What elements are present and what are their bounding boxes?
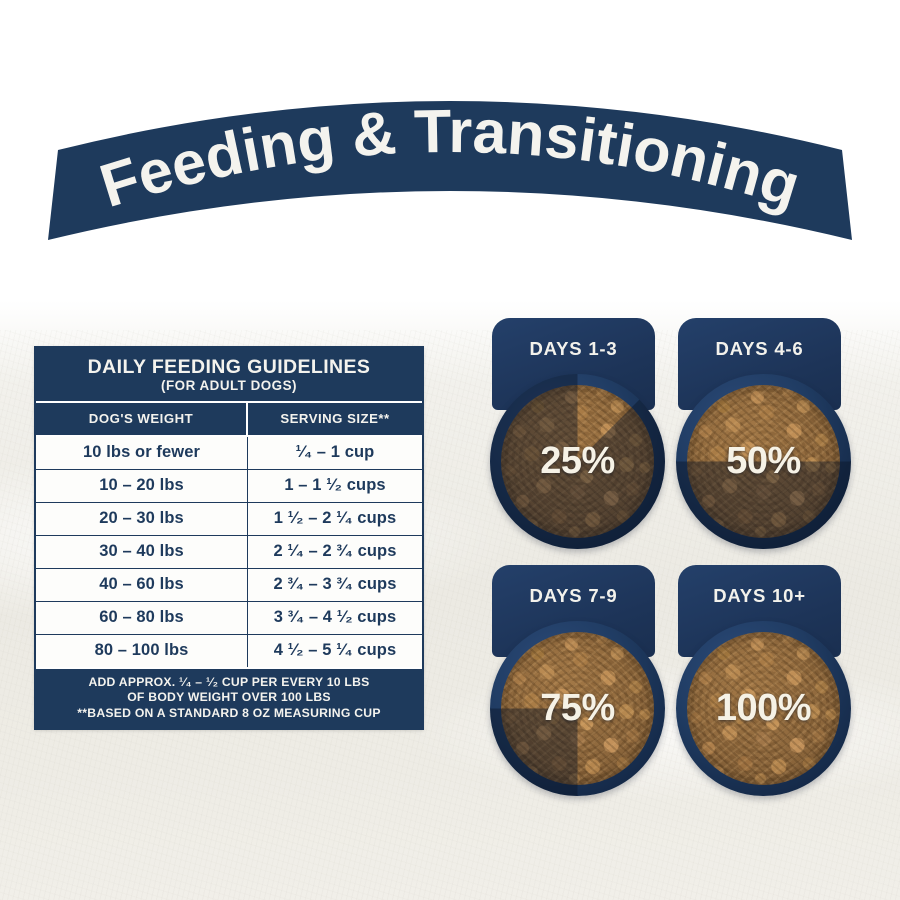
footer-note: **BASED ON A STANDARD 8 OZ MEASURING CUP <box>42 706 416 721</box>
step-label: DAYS 4-6 <box>678 338 841 360</box>
table-row: 80 – 100 lbs 4 ¹⁄₂ – 5 ¹⁄₄ cups <box>36 634 422 667</box>
transition-step-days-1-3: DAYS 1-3 25% <box>490 318 665 550</box>
table-row: 20 – 30 lbs 1 ¹⁄₂ – 2 ¹⁄₄ cups <box>36 502 422 535</box>
cell-weight: 10 lbs or fewer <box>36 437 248 469</box>
table-row: 10 lbs or fewer ¹⁄₄ – 1 cup <box>36 435 422 469</box>
table-row: 40 – 60 lbs 2 ³⁄₄ – 3 ³⁄₄ cups <box>36 568 422 601</box>
footer-line-1: ADD APPROX. ¹⁄₄ – ¹⁄₂ CUP PER EVERY 10 L… <box>42 675 416 690</box>
transition-step-days-10-plus: DAYS 10+ 100% <box>676 565 851 797</box>
table-header: DAILY FEEDING GUIDELINES (FOR ADULT DOGS… <box>36 348 422 401</box>
table-row: 10 – 20 lbs 1 – 1 ¹⁄₂ cups <box>36 469 422 502</box>
daily-feeding-guidelines-table: DAILY FEEDING GUIDELINES (FOR ADULT DOGS… <box>34 346 424 730</box>
banner: Feeding & Transitioning <box>40 100 860 260</box>
step-label: DAYS 7-9 <box>492 585 655 607</box>
table-subtitle: (FOR ADULT DOGS) <box>42 378 416 393</box>
cell-serving: 2 ¹⁄₄ – 2 ³⁄₄ cups <box>248 536 422 568</box>
table-row: 30 – 40 lbs 2 ¹⁄₄ – 2 ³⁄₄ cups <box>36 535 422 568</box>
step-percent: 100% <box>676 621 851 796</box>
cell-weight: 10 – 20 lbs <box>36 470 248 502</box>
transition-step-days-4-6: DAYS 4-6 50% <box>676 318 851 550</box>
cell-serving: ¹⁄₄ – 1 cup <box>248 437 422 469</box>
cell-weight: 30 – 40 lbs <box>36 536 248 568</box>
cell-serving: 4 ¹⁄₂ – 5 ¹⁄₄ cups <box>248 635 422 667</box>
table-row: 60 – 80 lbs 3 ³⁄₄ – 4 ¹⁄₂ cups <box>36 601 422 634</box>
cell-serving: 3 ³⁄₄ – 4 ¹⁄₂ cups <box>248 602 422 634</box>
table-title: DAILY FEEDING GUIDELINES <box>42 357 416 377</box>
cell-weight: 60 – 80 lbs <box>36 602 248 634</box>
step-percent: 25% <box>490 374 665 549</box>
feeding-transitioning-infographic: Feeding & Transitioning DAILY FEEDING GU… <box>0 0 900 900</box>
cell-serving: 1 ¹⁄₂ – 2 ¹⁄₄ cups <box>248 503 422 535</box>
footer-line-2: OF BODY WEIGHT OVER 100 LBS <box>42 690 416 705</box>
table-column-headers: DOG'S WEIGHT SERVING SIZE** <box>36 401 422 435</box>
cell-weight: 80 – 100 lbs <box>36 635 248 667</box>
transition-step-days-7-9: DAYS 7-9 75% <box>490 565 665 797</box>
table-footer: ADD APPROX. ¹⁄₄ – ¹⁄₂ CUP PER EVERY 10 L… <box>36 667 422 728</box>
table-body: 10 lbs or fewer ¹⁄₄ – 1 cup 10 – 20 lbs … <box>36 435 422 667</box>
step-percent: 75% <box>490 621 665 796</box>
column-header-serving: SERVING SIZE** <box>248 403 422 435</box>
cell-serving: 1 – 1 ¹⁄₂ cups <box>248 470 422 502</box>
cell-weight: 20 – 30 lbs <box>36 503 248 535</box>
cell-weight: 40 – 60 lbs <box>36 569 248 601</box>
step-label: DAYS 1-3 <box>492 338 655 360</box>
transition-schedule: DAYS 1-3 25% DAYS 4-6 50% DAYS 7-9 <box>470 312 880 832</box>
column-header-weight: DOG'S WEIGHT <box>36 403 248 435</box>
step-percent: 50% <box>676 374 851 549</box>
cell-serving: 2 ³⁄₄ – 3 ³⁄₄ cups <box>248 569 422 601</box>
step-label: DAYS 10+ <box>678 585 841 607</box>
